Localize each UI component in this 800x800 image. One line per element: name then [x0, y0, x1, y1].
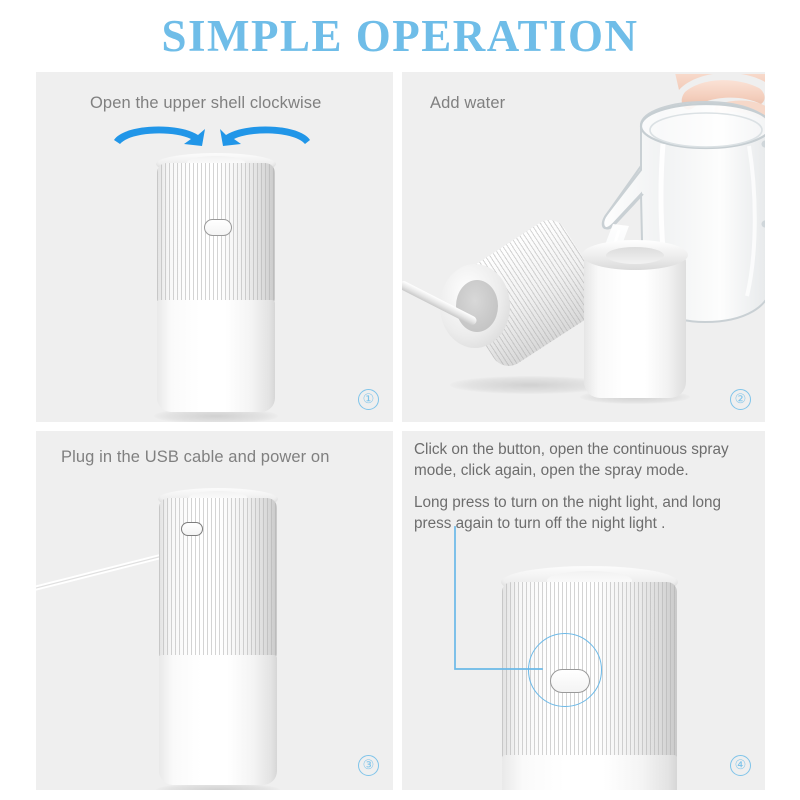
step-panel-3: Plug in the USB cable and power on ③ [36, 431, 393, 790]
steps-grid: Open the upper shell clockwise ① Add wat… [36, 72, 765, 790]
device-ribbed-shell [159, 498, 277, 658]
step-4-caption-line-2: Long press to turn on the night light, a… [414, 492, 759, 534]
device-water-tank [502, 755, 677, 790]
upper-shell-lid [464, 240, 594, 346]
humidifier-device [159, 495, 277, 785]
lid-nozzle-recess [456, 280, 498, 332]
usb-port[interactable] [181, 522, 203, 536]
step-badge-3: ③ [358, 755, 379, 776]
step-badge-4: ④ [730, 755, 751, 776]
device-water-tank [159, 655, 277, 785]
device-ribbed-shell [502, 582, 677, 760]
water-tank [584, 240, 686, 398]
power-button[interactable] [204, 219, 232, 236]
humidifier-device [157, 160, 275, 412]
step-badge-2: ② [730, 389, 751, 410]
step-panel-2: Add water [402, 72, 765, 422]
power-button[interactable] [550, 669, 590, 693]
step-4-caption: Click on the button, open the continuous… [414, 439, 759, 545]
device-water-tank [157, 300, 275, 412]
step-panel-4: Click on the button, open the continuous… [402, 431, 765, 790]
step-badge-1: ① [358, 389, 379, 410]
step-1-caption: Open the upper shell clockwise [90, 92, 321, 114]
tank-body [584, 254, 686, 398]
page-title: SIMPLE OPERATION [0, 8, 800, 64]
humidifier-device [502, 577, 677, 790]
step-4-caption-line-1: Click on the button, open the continuous… [414, 439, 759, 481]
tank-opening [606, 247, 664, 264]
step-3-caption: Plug in the USB cable and power on [61, 446, 330, 468]
step-panel-1: Open the upper shell clockwise ① [36, 72, 393, 422]
